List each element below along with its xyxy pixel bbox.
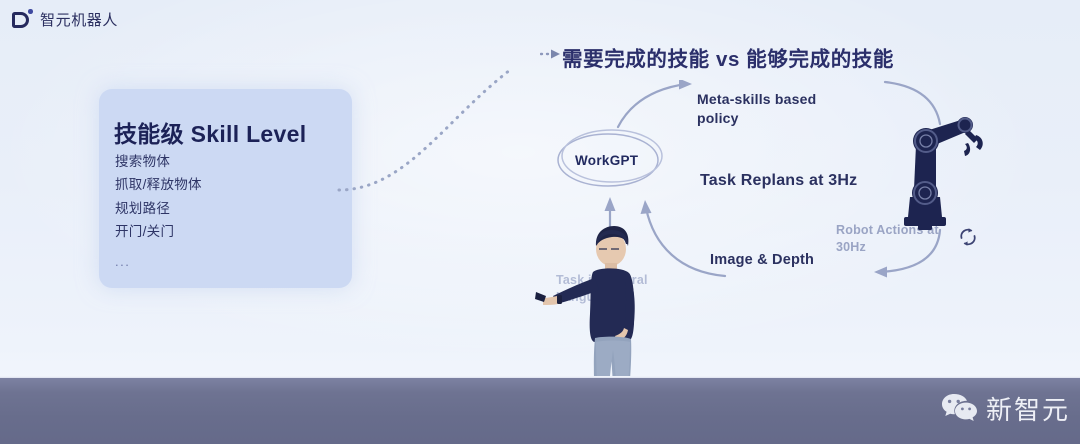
list-item: 抓取/释放物体 — [115, 178, 202, 193]
wechat-icon — [941, 393, 978, 424]
stage-floor — [0, 378, 1080, 444]
node-label-workgpt: WorkGPT — [575, 153, 638, 168]
node-label-meta-skills: Meta-skills based policy — [697, 90, 817, 128]
aime-d-logo-icon — [12, 9, 33, 30]
skill-panel-title: 技能级 Skill Level — [114, 115, 306, 149]
skill-list: 搜索物体 抓取/释放物体 规划路径 开门/关门 ... — [115, 155, 202, 269]
list-item: 搜索物体 — [115, 155, 202, 170]
brand-logo-text: 智元机器人 — [40, 9, 118, 30]
robot-arm-icon — [880, 105, 990, 240]
brand-logo: 智元机器人 — [12, 9, 118, 30]
node-label-image-depth: Image & Depth — [710, 251, 814, 270]
list-item: 规划路径 — [115, 202, 202, 217]
arrow-right-icon — [540, 46, 562, 62]
dotted-curve-arrow-icon — [335, 40, 575, 205]
channel-watermark: 新智元 — [941, 390, 1070, 427]
node-label-task-replans: Task Replans at 3Hz — [700, 172, 857, 190]
presentation-screenshot: 智元机器人 技能级 Skill Level 搜索物体 抓取/释放物体 规划路径 … — [0, 0, 1080, 444]
list-item-ellipsis: ... — [115, 254, 202, 269]
skill-level-panel: 技能级 Skill Level 搜索物体 抓取/释放物体 规划路径 开门/关门 … — [99, 89, 352, 288]
watermark-text: 新智元 — [986, 390, 1070, 427]
list-item: 开门/关门 — [115, 225, 202, 240]
page-title: 需要完成的技能 vs 能够完成的技能 — [562, 42, 894, 72]
